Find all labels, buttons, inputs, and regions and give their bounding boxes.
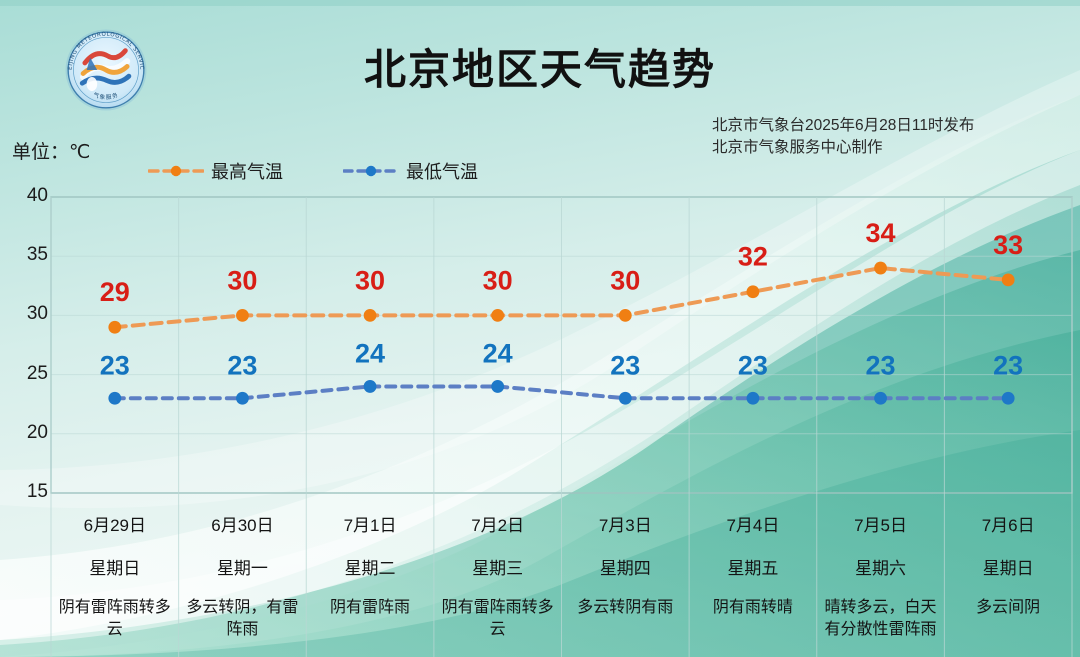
- y-axis-tick-label: 20: [8, 422, 48, 444]
- data-label-high: 33: [993, 230, 1023, 260]
- data-point-high: [1002, 273, 1015, 286]
- x-axis-column: 6月29日星期日阴有雷阵雨转多云: [51, 497, 179, 657]
- x-axis-weekday: 星期日: [948, 554, 1068, 579]
- data-point-high: [747, 285, 760, 298]
- x-axis-column: 7月5日星期六晴转多云，白天有分散性雷阵雨: [817, 497, 945, 657]
- x-axis-weather-description: 阴有雷阵雨转多云: [55, 597, 175, 641]
- x-axis-column: 7月3日星期四多云转阴有雨: [562, 497, 690, 657]
- y-axis-tick-label: 40: [8, 185, 48, 207]
- x-axis-weekday: 星期五: [693, 554, 813, 579]
- x-axis-weather-description: 多云转阴，有雷阵雨: [183, 597, 303, 641]
- x-axis-weather-description: 阴有雷阵雨: [310, 597, 430, 619]
- data-point-low: [491, 380, 504, 393]
- data-point-high: [491, 309, 504, 322]
- data-label-low: 23: [866, 350, 896, 380]
- data-label-high: 29: [100, 277, 130, 307]
- data-label-low: 24: [483, 338, 513, 368]
- x-axis-column: 6月30日星期一多云转阴，有雷阵雨: [179, 497, 307, 657]
- data-point-low: [1002, 392, 1015, 405]
- data-label-low: 23: [993, 350, 1023, 380]
- data-label-low: 23: [738, 350, 768, 380]
- x-axis-weekday: 星期六: [821, 554, 941, 579]
- x-axis-date: 6月29日: [55, 511, 175, 536]
- x-axis-weekday: 星期二: [310, 554, 430, 579]
- data-label-low: 24: [355, 338, 385, 368]
- data-label-low: 23: [610, 350, 640, 380]
- data-label-high: 32: [738, 242, 768, 272]
- data-point-high: [236, 309, 249, 322]
- weather-trend-infographic: BEIJING METEOROLOGICAL SERVICE 气象服务 北京地区…: [0, 0, 1080, 657]
- data-label-high: 34: [866, 218, 896, 248]
- x-axis-weekday: 星期日: [55, 554, 175, 579]
- data-label-high: 30: [610, 265, 640, 295]
- data-label-high: 30: [355, 265, 385, 295]
- x-axis-column: 7月1日星期二阴有雷阵雨: [306, 497, 434, 657]
- x-axis-weekday: 星期一: [183, 554, 303, 579]
- data-point-low: [108, 392, 121, 405]
- x-axis-date: 7月5日: [821, 511, 941, 536]
- x-axis-date: 7月4日: [693, 511, 813, 536]
- data-point-low: [236, 392, 249, 405]
- y-axis-tick-label: 25: [8, 363, 48, 385]
- x-axis-date: 7月3日: [566, 511, 686, 536]
- x-axis-weather-description: 多云转阴有雨: [566, 597, 686, 619]
- x-axis-date: 7月2日: [438, 511, 558, 536]
- x-axis-date: 7月6日: [948, 511, 1068, 536]
- x-axis-column: 7月6日星期日多云间阴: [944, 497, 1072, 657]
- data-point-high: [364, 309, 377, 322]
- data-label-high: 30: [483, 265, 513, 295]
- data-label-low: 23: [227, 350, 257, 380]
- x-axis-weather-description: 多云间阴: [948, 597, 1068, 619]
- data-point-high: [619, 309, 632, 322]
- x-axis-weekday: 星期三: [438, 554, 558, 579]
- x-axis-date: 6月30日: [183, 511, 303, 536]
- x-axis-weather-description: 阴有雷阵雨转多云: [438, 597, 558, 641]
- y-axis-tick-label: 15: [8, 481, 48, 503]
- data-label-low: 23: [100, 350, 130, 380]
- x-axis-weather-description: 晴转多云，白天有分散性雷阵雨: [821, 597, 941, 641]
- x-axis-weekday: 星期四: [566, 554, 686, 579]
- data-point-low: [874, 392, 887, 405]
- data-label-high: 30: [227, 265, 257, 295]
- y-axis-tick-label: 35: [8, 244, 48, 266]
- data-point-low: [619, 392, 632, 405]
- data-point-low: [364, 380, 377, 393]
- y-axis-tick-label: 30: [8, 303, 48, 325]
- data-point-high: [874, 262, 887, 275]
- x-axis-column: 7月2日星期三阴有雷阵雨转多云: [434, 497, 562, 657]
- x-axis-column: 7月4日星期五阴有雨转晴: [689, 497, 817, 657]
- x-axis-columns: 6月29日星期日阴有雷阵雨转多云6月30日星期一多云转阴，有雷阵雨7月1日星期二…: [51, 497, 1072, 657]
- x-axis-weather-description: 阴有雨转晴: [693, 597, 813, 619]
- data-point-high: [108, 321, 121, 334]
- data-point-low: [747, 392, 760, 405]
- x-axis-date: 7月1日: [310, 511, 430, 536]
